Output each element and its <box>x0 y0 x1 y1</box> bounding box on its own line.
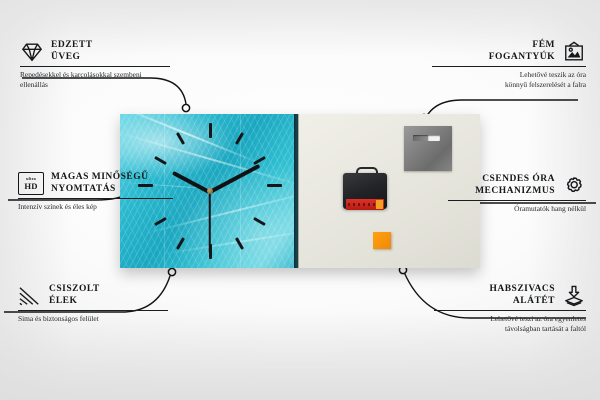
foam-pad-sample <box>373 232 391 249</box>
callout-title: CSISZOLT <box>49 284 100 296</box>
callout-divider <box>448 200 586 201</box>
clock-minute-hand <box>209 164 260 194</box>
clock-tick <box>176 132 185 145</box>
callout-subtitle: Sima és biztonságos felület <box>18 314 168 324</box>
ultra-hd-icon: ultra HD <box>18 172 44 195</box>
callout-subtitle: Lehetővé teszi az óra egyenletes <box>434 314 586 324</box>
clock-tick <box>154 156 167 165</box>
infographic-canvas: EDZETT ÜVEG Repedésekkel és karcolásokka… <box>0 0 600 400</box>
callout-subtitle: Lehetővé teszik az óra <box>432 70 586 80</box>
ultra-hd-icon-bottom: HD <box>24 182 37 191</box>
callout-title: MAGAS MINŐSÉGŰ <box>51 172 149 184</box>
mechanism-body <box>343 173 387 209</box>
callout-title-line2: ÜVEG <box>51 52 93 64</box>
callout-divider <box>20 66 170 67</box>
hanger-slot <box>413 135 440 141</box>
clock-tick <box>235 237 244 250</box>
callout-high-quality-print: ultra HD MAGAS MINŐSÉGŰ NYOMTATÁS Intenz… <box>18 172 173 212</box>
leader-dot-polished-edges <box>168 268 175 275</box>
clock-hands-hub <box>207 188 213 194</box>
callout-divider <box>432 66 586 67</box>
callout-title-line2: FOGANTYÚK <box>489 52 555 64</box>
callout-divider <box>434 310 586 311</box>
callout-title-line2: MECHANIZMUS <box>475 186 555 198</box>
callout-subtitle-line2: távolságban tartását a faltól <box>434 324 586 334</box>
callout-silent-mechanism: CSENDES ÓRA MECHANIZMUS Óramutatók hang … <box>448 174 586 214</box>
callout-title-line2: ALÁTÉT <box>489 296 555 308</box>
metal-hanger-plate <box>404 126 452 171</box>
callout-title: FÉM <box>489 40 555 52</box>
gear-icon <box>562 175 586 197</box>
callout-subtitle: Óramutatók hang nélkül <box>448 204 586 214</box>
foam-pad-arrow-icon <box>562 285 586 307</box>
callout-subtitle-line2: könnyű felszerelését a falra <box>432 80 586 90</box>
callout-tempered-glass: EDZETT ÜVEG Repedésekkel és karcolásokka… <box>20 40 170 89</box>
battery <box>346 199 384 210</box>
quartz-mechanism <box>343 167 387 209</box>
clock-second-hand <box>209 191 211 253</box>
callout-subtitle: Repedésekkel és karcolásokkal szembeni e… <box>20 70 170 89</box>
leader-dot-tempered-glass <box>182 104 189 111</box>
callout-title-line2: NYOMTATÁS <box>51 184 149 196</box>
picture-frame-hanger-icon <box>562 41 586 63</box>
callout-title: CSENDES ÓRA <box>475 174 555 186</box>
clock-tick <box>235 132 244 145</box>
callout-subtitle: Intenzív színek és éles kép <box>18 202 173 212</box>
product-composite <box>120 114 480 268</box>
callout-foam-pad: HABSZIVACS ALÁTÉT Lehetővé teszi az óra … <box>434 284 586 333</box>
clock-tick <box>154 217 167 226</box>
clock-tick <box>253 156 266 165</box>
callout-title: EDZETT <box>51 40 93 52</box>
callout-title-line2: ÉLEK <box>49 296 100 308</box>
callout-divider <box>18 310 168 311</box>
hatched-edge-icon <box>18 285 42 307</box>
clock-tick <box>267 184 282 187</box>
clock-tick <box>176 237 185 250</box>
callout-divider <box>18 198 173 199</box>
clock-tick <box>209 123 212 138</box>
callout-title: HABSZIVACS <box>489 284 555 296</box>
callout-metal-handles: FÉM FOGANTYÚK Lehetővé teszik az óra kön… <box>432 40 586 89</box>
diamond-icon <box>20 41 44 63</box>
clock-tick <box>253 217 266 226</box>
callout-polished-edges: CSISZOLT ÉLEK Sima és biztonságos felüle… <box>18 284 168 324</box>
clock-hour-hand <box>172 170 211 194</box>
